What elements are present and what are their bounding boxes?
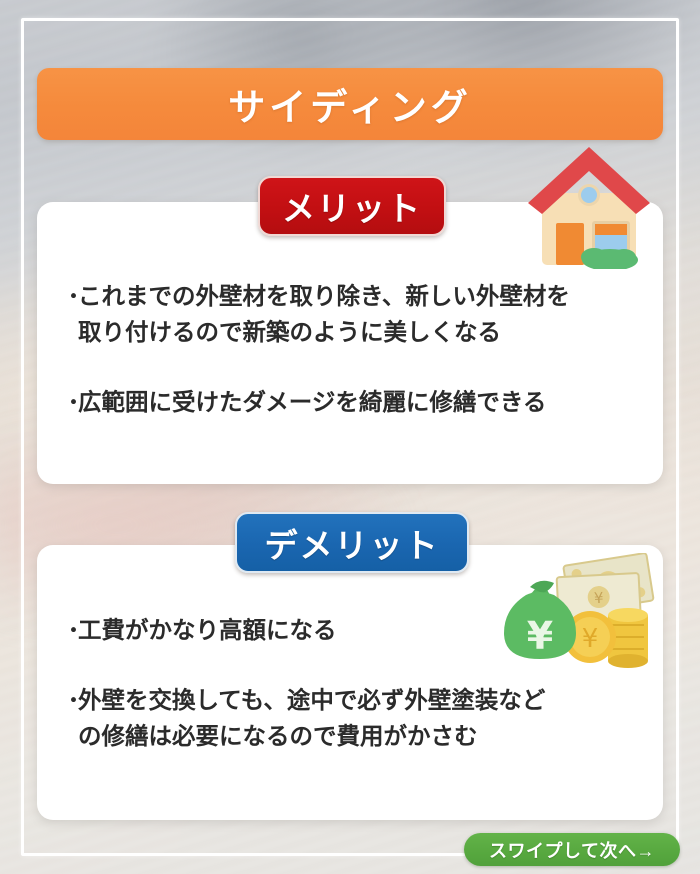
money-bag-icon: ¥ ¥ ¥ [500, 553, 660, 671]
svg-text:¥: ¥ [527, 614, 553, 658]
demerit-badge: デメリット [235, 512, 469, 573]
bullet-body: 広範囲に受けたダメージを綺麗に修繕できる [78, 384, 642, 420]
bullet-body: 外壁を交換しても、途中で必ず外壁塗装など の修繕は必要になるので費用がかさむ [78, 682, 642, 754]
list-item: ・ 広範囲に受けたダメージを綺麗に修繕できる [62, 384, 642, 420]
bullet-line: の修繕は必要になるので費用がかさむ [78, 718, 642, 754]
bullet-dot: ・ [62, 384, 78, 420]
bullet-dot: ・ [62, 612, 78, 648]
bullet-line: 取り付けるので新築のように美しくなる [78, 314, 642, 350]
svg-text:¥: ¥ [582, 624, 599, 654]
list-item: ・ 外壁を交換しても、途中で必ず外壁塗装など の修繕は必要になるので費用がかさむ [62, 682, 642, 754]
svg-text:¥: ¥ [594, 589, 604, 607]
bullet-line: 外壁を交換しても、途中で必ず外壁塗装など [78, 682, 642, 718]
bullet-dot: ・ [62, 278, 78, 314]
bullet-line: 広範囲に受けたダメージを綺麗に修繕できる [78, 384, 642, 420]
merit-badge: メリット [258, 176, 446, 236]
bullet-line: これまでの外壁材を取り除き、新しい外壁材を [78, 278, 642, 314]
merit-badge-label: メリット [282, 182, 422, 230]
title-banner: サイディング [37, 68, 663, 140]
swipe-next-button[interactable]: スワイプして次へ→ [464, 833, 680, 866]
page-title: サイディング [228, 77, 471, 131]
merit-bullet-list: ・ これまでの外壁材を取り除き、新しい外壁材を 取り付けるので新築のように美しく… [62, 278, 642, 420]
demerit-badge-label: デメリット [265, 519, 440, 567]
bullet-dot: ・ [62, 682, 78, 718]
swipe-next-label: スワイプして次へ→ [489, 837, 655, 863]
slide-root: サイディング メリット ・ [0, 0, 700, 874]
list-item: ・ これまでの外壁材を取り除き、新しい外壁材を 取り付けるので新築のように美しく… [62, 278, 642, 350]
house-icon [514, 141, 664, 269]
bullet-body: これまでの外壁材を取り除き、新しい外壁材を 取り付けるので新築のように美しくなる [78, 278, 642, 350]
